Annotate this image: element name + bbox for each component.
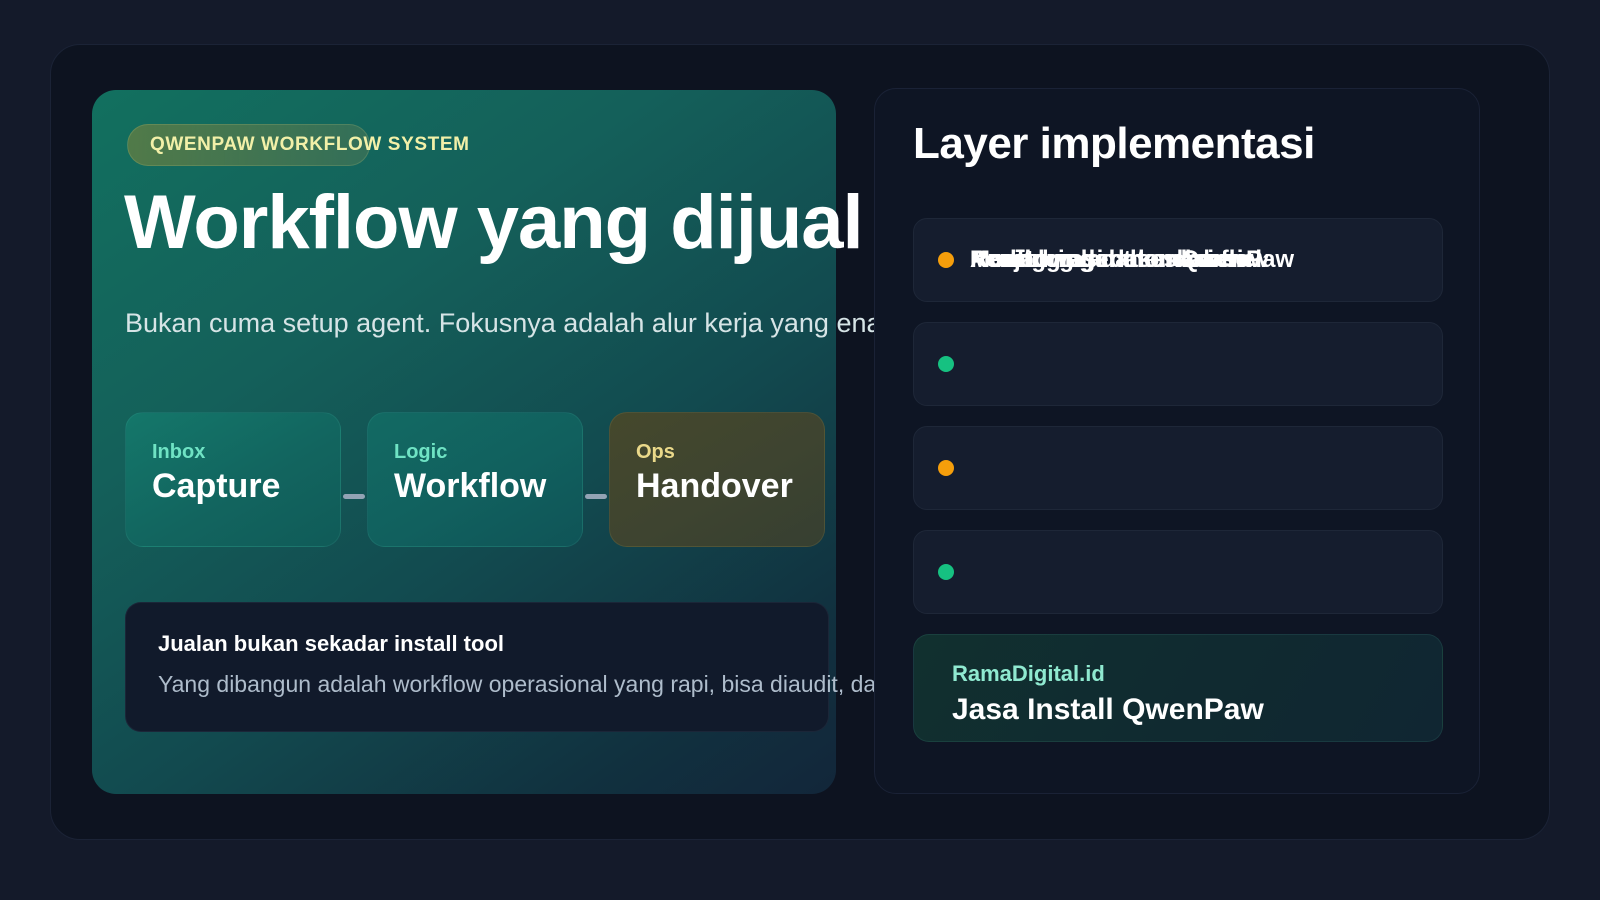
cta-title: Jasa Install QwenPaw [952, 693, 1442, 727]
layer-row[interactable] [913, 322, 1443, 406]
cta-brand-label: RamaDigital.id [952, 661, 1442, 687]
hero-card: QWENPAW WORKFLOW SYSTEM Workflow yang di… [92, 90, 836, 794]
step-chip-handover[interactable]: Ops Handover [609, 412, 825, 547]
right-panel-title: Layer implementasi [913, 119, 1315, 169]
cta-card[interactable]: RamaDigital.id Jasa Install QwenPaw [913, 634, 1443, 742]
layer-row[interactable] [913, 426, 1443, 510]
layer-label: Konfigurasi dasar QwenPawRouting agent k… [970, 248, 1294, 272]
layer-status-dot-icon [938, 564, 954, 580]
layer-status-dot-icon [938, 356, 954, 372]
layer-label-line: Audit log dan handover [970, 248, 1238, 272]
step-kicker-logic: Logic [394, 441, 556, 464]
workflow-step-row: Inbox Capture Logic Workflow Ops Handove… [125, 412, 825, 547]
step-title-handover: Handover [636, 468, 798, 505]
note-title: Jualan bukan sekadar install tool [158, 631, 796, 657]
note-description: Yang dibangun adalah workflow operasiona… [158, 671, 796, 698]
layer-list: Konfigurasi dasar QwenPawRouting agent k… [913, 218, 1443, 634]
step-kicker-ops: Ops [636, 441, 798, 464]
step-kicker-inbox: Inbox [152, 441, 314, 464]
layer-row[interactable] [913, 530, 1443, 614]
hero-badge: QWENPAW WORKFLOW SYSTEM [127, 124, 370, 166]
hero-badge-label: QWENPAW WORKFLOW SYSTEM [150, 134, 470, 156]
implementation-layer-panel: Layer implementasi Konfigurasi dasar Qwe… [874, 88, 1480, 794]
step-title-workflow: Workflow [394, 468, 556, 505]
step-chip-workflow[interactable]: Logic Workflow [367, 412, 583, 547]
layer-status-dot-icon [938, 460, 954, 476]
layer-status-dot-icon [938, 252, 954, 268]
step-title-capture: Capture [152, 468, 314, 505]
screen-root: QWENPAW WORKFLOW SYSTEM Workflow yang di… [0, 0, 1600, 900]
step-chip-capture[interactable]: Inbox Capture [125, 412, 341, 547]
step-connector-icon [343, 494, 365, 499]
step-connector-icon [585, 494, 607, 499]
note-card: Jualan bukan sekadar install tool Yang d… [125, 602, 829, 732]
layer-row[interactable]: Konfigurasi dasar QwenPawRouting agent k… [913, 218, 1443, 302]
